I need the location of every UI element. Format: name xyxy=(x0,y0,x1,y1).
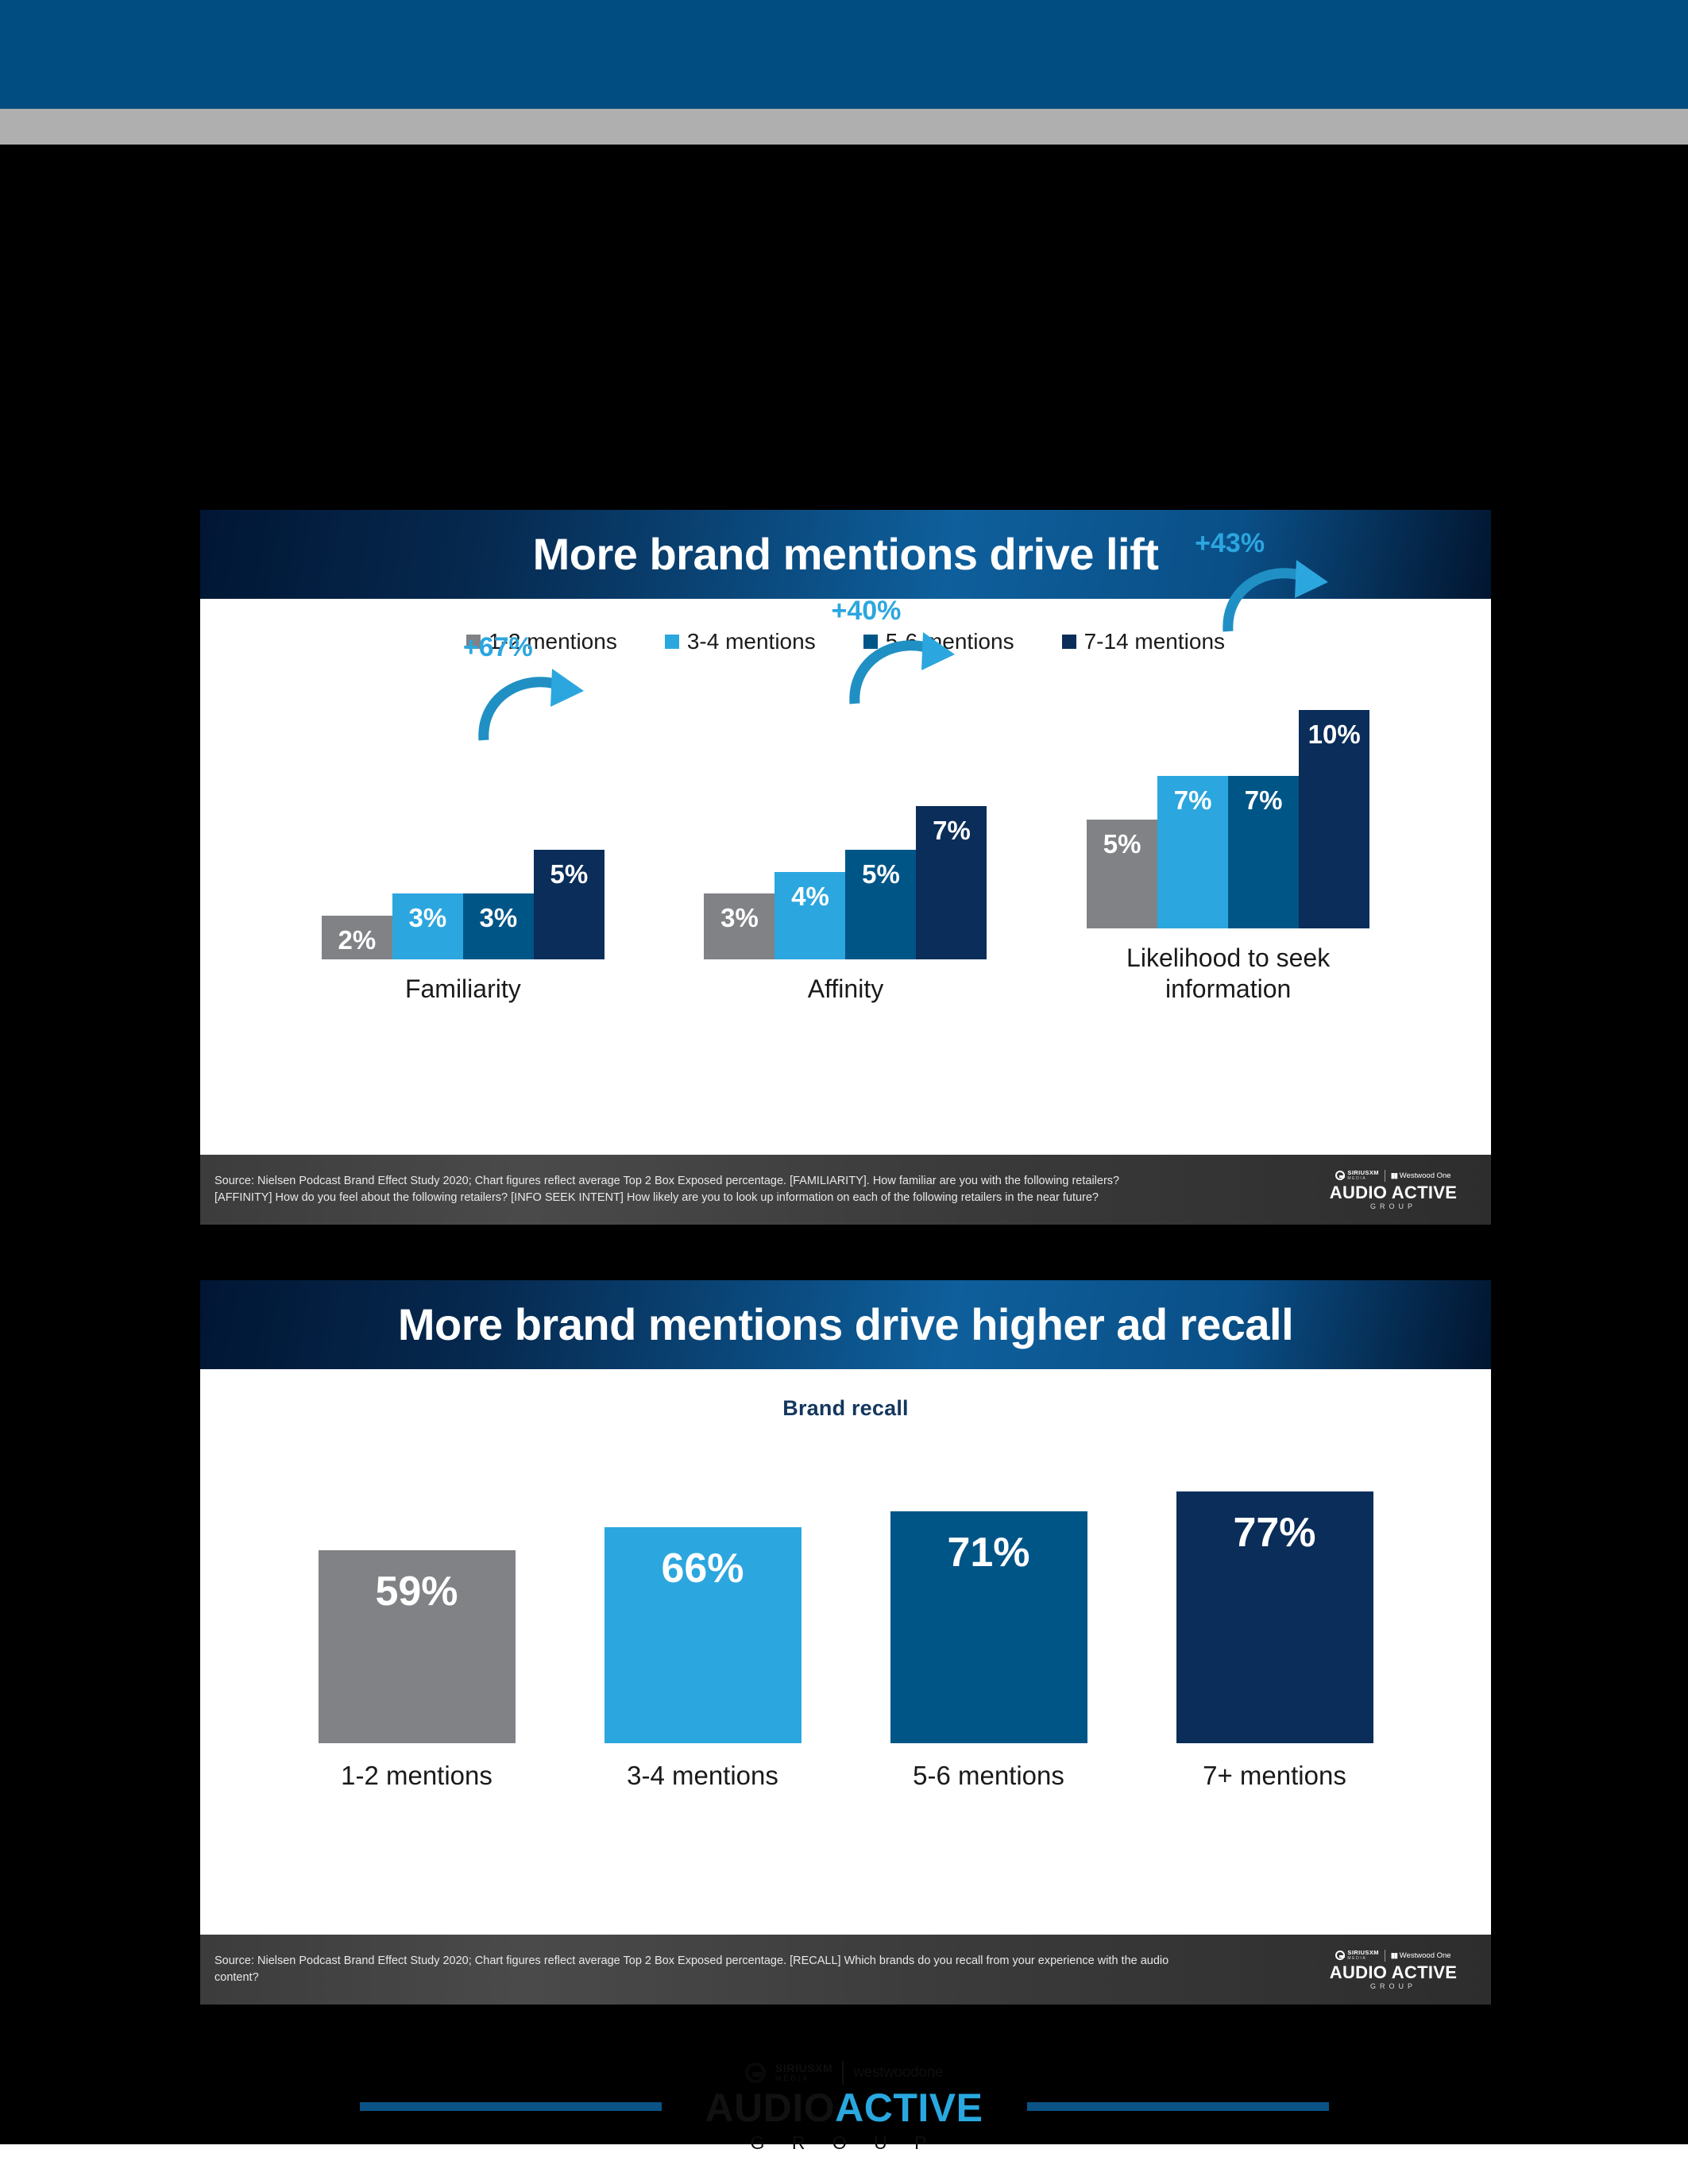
chart2-category-label: 5-6 mentions xyxy=(913,1761,1064,1791)
bar-value-label: 7% xyxy=(916,816,987,846)
footer-logo-audio: AUDIO xyxy=(705,2088,836,2128)
logo-divider xyxy=(842,2061,844,2085)
bar: 5% xyxy=(1087,820,1157,929)
bar: 3% xyxy=(392,893,463,959)
siriusxm-wordmark: SIRIUSXM xyxy=(775,2062,832,2074)
bar-value-label: 3% xyxy=(392,903,463,933)
bar-value-label: 71% xyxy=(890,1529,1087,1576)
lift-annotation: +40% xyxy=(831,596,901,627)
bar-value-label: 5% xyxy=(1087,829,1157,859)
slide1-footer: Source: Nielsen Podcast Brand Effect Stu… xyxy=(200,1155,1491,1225)
bar-value-label: 4% xyxy=(774,882,845,912)
chart1-category-label: Familiarity xyxy=(320,974,606,1004)
legend-label: 3-4 mentions xyxy=(687,629,816,654)
chart2-column: 66% 3-4 mentions xyxy=(605,1527,802,1791)
bar-value-label: 3% xyxy=(463,903,534,933)
page-footer-logo: SIRIUSXM MEDIA westwoodone AUDIO ACTIVE … xyxy=(662,2059,1027,2154)
siriusxm-logo-icon xyxy=(745,2062,766,2083)
bar: 7% xyxy=(916,806,987,959)
logo-main-text: AUDIO ACTIVE xyxy=(1330,1964,1457,1981)
logo-divider xyxy=(1385,1170,1385,1182)
legend-swatch-icon xyxy=(665,635,679,649)
logo-sub-text: GROUP xyxy=(1370,1983,1416,1990)
bar-value-label: 5% xyxy=(845,859,916,889)
slide-brand-mentions-ad-recall: More brand mentions drive higher ad reca… xyxy=(200,1280,1491,2005)
westwoodone-wordmark: westwoodone xyxy=(853,2064,943,2082)
logo-divider xyxy=(1385,1950,1385,1962)
bar: 71% xyxy=(890,1511,1087,1743)
siriusxm-wordmark: SIRIUSXM xyxy=(1347,1950,1378,1956)
slide2-footer: Source: Nielsen Podcast Brand Effect Stu… xyxy=(200,1935,1491,2005)
slide1-title: More brand mentions drive lift xyxy=(533,532,1159,577)
bar: 4% xyxy=(774,872,845,959)
lift-annotation: +67% xyxy=(463,632,533,663)
bar-value-label: 59% xyxy=(319,1568,516,1615)
westwood-mark-icon: ▮▮ xyxy=(1391,1171,1397,1180)
bar-value-label: 66% xyxy=(605,1545,802,1592)
siriusxm-wordmark: SIRIUSXM xyxy=(1347,1170,1378,1176)
legend-swatch-icon xyxy=(1062,635,1076,649)
lift-arrow-icon xyxy=(844,631,963,707)
bar-value-label: 2% xyxy=(322,925,392,955)
bar: 7% xyxy=(1157,776,1228,929)
siriusxm-sub: MEDIA xyxy=(1347,1177,1378,1181)
bar: 3% xyxy=(704,893,774,959)
bar: 59% xyxy=(319,1550,516,1743)
slide1-source-note: Source: Nielsen Podcast Brand Effect Stu… xyxy=(214,1173,1176,1206)
slide2-body: Brand recall 59% 1-2 mentions 66% 3-4 me… xyxy=(200,1369,1491,1935)
audio-active-group-logo: SIRIUSXM MEDIA ▮▮ Westwood One AUDIO ACT… xyxy=(1310,1169,1477,1210)
top-blue-band xyxy=(0,0,1688,109)
chart1-plot-area: +67% 2% 3% 3% 5% xyxy=(200,670,1491,1004)
audio-active-group-logo: SIRIUSXM MEDIA ▮▮ Westwood One AUDIO ACT… xyxy=(1310,1949,1477,1990)
bar-value-label: 3% xyxy=(704,903,774,933)
bar: 5% xyxy=(534,850,605,959)
bar: 5% xyxy=(845,850,916,959)
siriusxm-logo-icon xyxy=(1335,1171,1345,1180)
siriusxm-logo-icon xyxy=(1335,1951,1345,1960)
footer-rule-left xyxy=(360,2102,662,2111)
slide2-title: More brand mentions drive higher ad reca… xyxy=(398,1302,1293,1347)
westwood-wordmark: Westwood One xyxy=(1400,1951,1451,1960)
bar-value-label: 7% xyxy=(1228,785,1299,816)
chart2-category-label: 3-4 mentions xyxy=(627,1761,778,1791)
chart1-bars: 5% 7% 7% 10% xyxy=(1087,666,1369,928)
chart2-column: 71% 5-6 mentions xyxy=(890,1511,1087,1791)
footer-rule-right xyxy=(1027,2102,1329,2111)
bar: 2% xyxy=(322,916,392,959)
top-gray-band xyxy=(0,109,1688,145)
chart1-group-info-seek: +43% 5% 7% 7% 10% xyxy=(1061,666,1395,1004)
siriusxm-sub: MEDIA xyxy=(775,2075,832,2082)
bar: 66% xyxy=(605,1527,802,1743)
bar: 77% xyxy=(1176,1491,1373,1743)
lift-arrow-icon xyxy=(1217,558,1336,635)
footer-logo-group: G R O U P xyxy=(751,2132,938,2154)
westwood-mark-icon: ▮▮ xyxy=(1391,1951,1397,1960)
westwood-wordmark: Westwood One xyxy=(1400,1171,1451,1180)
chart2-category-label: 7+ mentions xyxy=(1203,1761,1346,1791)
logo-main-text: AUDIO ACTIVE xyxy=(1330,1184,1457,1202)
legend-item-3-4-mentions: 3-4 mentions xyxy=(665,629,816,654)
chart1-group-familiarity: +67% 2% 3% 3% 5% xyxy=(296,697,630,1004)
bar: 7% xyxy=(1228,776,1299,929)
chart1-bars: 2% 3% 3% 5% xyxy=(322,697,605,959)
bar-value-label: 5% xyxy=(534,859,605,889)
bar-value-label: 10% xyxy=(1299,720,1369,750)
bar-value-label: 7% xyxy=(1157,785,1228,816)
logo-sub-text: GROUP xyxy=(1370,1203,1416,1210)
chart2-column: 77% 7+ mentions xyxy=(1176,1491,1373,1791)
bar: 3% xyxy=(463,893,534,959)
bar: 10% xyxy=(1299,710,1369,928)
chart1-category-label: Likelihood to seek information xyxy=(1085,943,1371,1004)
chart2-category-label: 1-2 mentions xyxy=(341,1761,492,1791)
bar-value-label: 77% xyxy=(1176,1509,1373,1557)
slide-brand-mentions-lift: More brand mentions drive lift 1-2 menti… xyxy=(200,510,1491,1225)
chart1-group-affinity: +40% 3% 4% 5% 7% xyxy=(678,697,1012,1004)
chart2-column: 59% 1-2 mentions xyxy=(319,1550,516,1791)
footer-logo-active: ACTIVE xyxy=(835,2088,983,2128)
chart2-plot-area: 59% 1-2 mentions 66% 3-4 mentions 71% 5-… xyxy=(200,1457,1491,1791)
legend-label: 7-14 mentions xyxy=(1084,629,1225,654)
page-footer: SIRIUSXM MEDIA westwoodone AUDIO ACTIVE … xyxy=(0,2068,1688,2144)
slide2-header: More brand mentions drive higher ad reca… xyxy=(200,1280,1491,1369)
chart1-bars: 3% 4% 5% 7% xyxy=(704,697,987,959)
slide1-body: 1-2 mentions 3-4 mentions 5-6 mentions 7… xyxy=(200,599,1491,1155)
chart1-category-label: Affinity xyxy=(702,974,988,1004)
chart2-subtitle: Brand recall xyxy=(200,1369,1491,1421)
siriusxm-sub: MEDIA xyxy=(1347,1957,1378,1961)
lift-annotation: +43% xyxy=(1195,528,1265,559)
slide2-source-note: Source: Nielsen Podcast Brand Effect Stu… xyxy=(214,1953,1176,1986)
legend-item-7-14-mentions: 7-14 mentions xyxy=(1062,629,1225,654)
